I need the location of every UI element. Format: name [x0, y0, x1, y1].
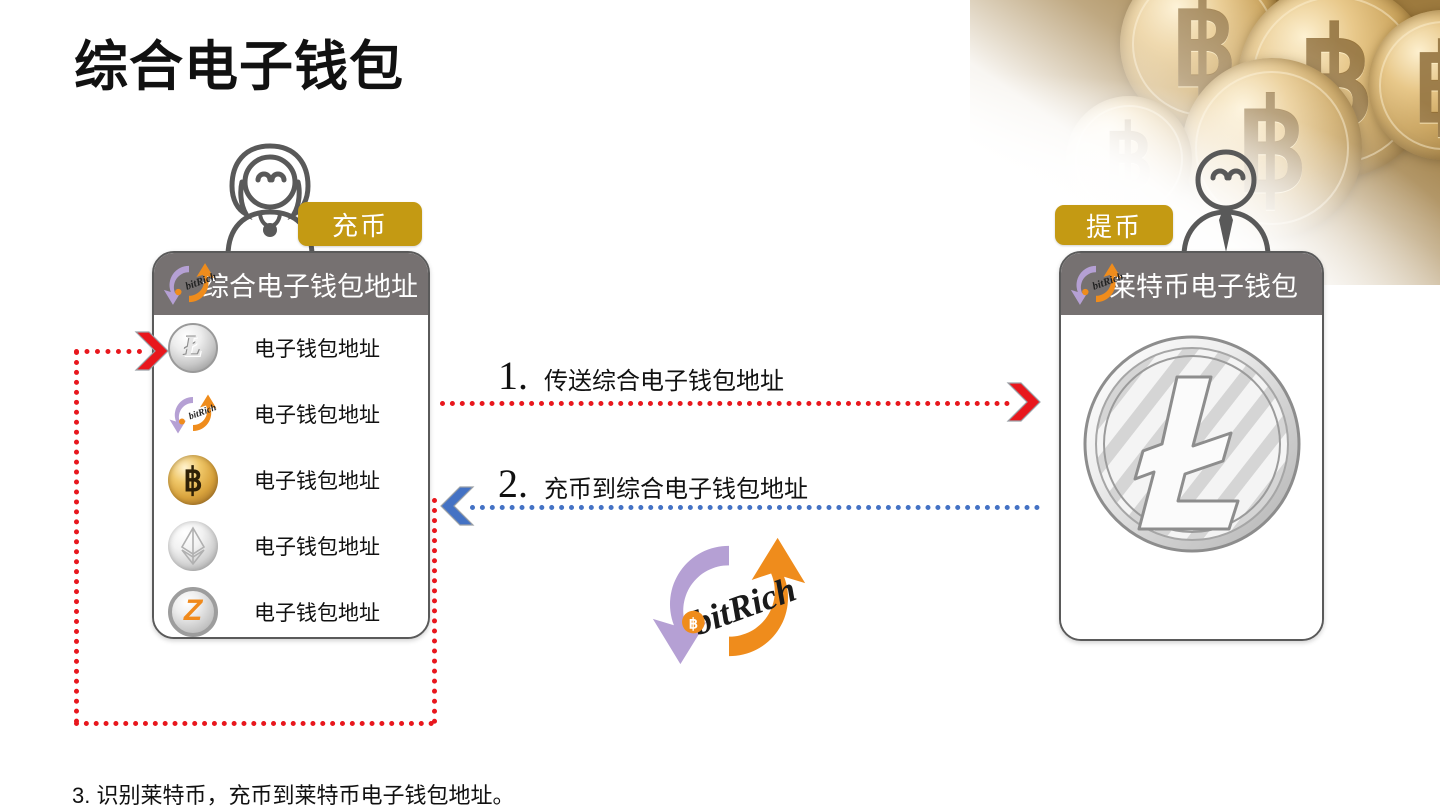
- step-1-label: 1. 传送综合电子钱包地址: [498, 352, 784, 399]
- step-2-label: 2. 充币到综合电子钱包地址: [498, 460, 808, 507]
- litecoin-wallet-card: bitRich 莱特币电子钱包: [1059, 251, 1324, 641]
- combined-wallet-header: bitRich 综合电子钱包地址: [154, 253, 428, 315]
- litecoin-wallet-header: bitRich 莱特币电子钱包: [1061, 253, 1322, 315]
- bitcoin-coin-icon: ฿: [168, 455, 218, 505]
- list-item[interactable]: ฿ 电子钱包地址: [154, 447, 428, 513]
- litecoin-wallet-body: [1061, 315, 1322, 639]
- svg-text:bitRich: bitRich: [687, 569, 801, 643]
- step-2-text: 充币到综合电子钱包地址: [544, 469, 808, 504]
- wallet-address-label: 电子钱包地址: [254, 597, 380, 627]
- combined-wallet-title: 综合电子钱包地址: [202, 265, 418, 304]
- litecoin-coin-large-icon: [1081, 333, 1303, 555]
- step-1-number: 1.: [498, 352, 528, 399]
- combined-wallet-card: bitRich 综合电子钱包地址 Ł 电子钱包地址 bitRich: [152, 251, 430, 639]
- withdraw-badge[interactable]: 提币: [1055, 205, 1173, 245]
- list-item[interactable]: Ł 电子钱包地址: [154, 315, 428, 381]
- step-1-connector: [440, 401, 1010, 406]
- bitrich-logo-icon: bitRich: [162, 261, 216, 307]
- loopback-connector-left: [74, 350, 79, 724]
- litecoin-wallet-title: 莱特币电子钱包: [1109, 265, 1298, 304]
- page-title: 综合电子钱包: [74, 22, 404, 101]
- svg-text:฿: ฿: [689, 617, 698, 633]
- litecoin-coin-icon: Ł: [168, 323, 218, 373]
- step-2-number: 2.: [498, 460, 528, 507]
- list-item[interactable]: Z 电子钱包地址: [154, 579, 428, 639]
- deposit-badge[interactable]: 充币: [298, 202, 422, 246]
- loopback-connector-bottom: [74, 721, 434, 726]
- list-item[interactable]: bitRich 电子钱包地址: [154, 381, 428, 447]
- wallet-address-label: 电子钱包地址: [254, 399, 380, 429]
- wallet-address-label: 电子钱包地址: [254, 531, 380, 561]
- wallet-address-label: 电子钱包地址: [254, 333, 380, 363]
- step-1-text: 传送综合电子钱包地址: [544, 361, 784, 396]
- loopback-connector-top: [74, 349, 142, 354]
- ethereum-coin-icon: [168, 521, 218, 571]
- chevron-right-icon: [133, 329, 173, 373]
- combined-wallet-list: Ł 电子钱包地址 bitRich 电子钱包地址 ฿ 电子钱包地址: [154, 315, 428, 637]
- wallet-address-label: 电子钱包地址: [254, 465, 380, 495]
- bitrich-logo-center: bitRich ฿: [648, 528, 810, 674]
- chevron-right-icon: [1005, 380, 1045, 424]
- chevron-left-icon: [436, 484, 476, 528]
- list-item[interactable]: 电子钱包地址: [154, 513, 428, 579]
- slide-canvas: ฿ ฿ ฿ ฿ ฿ 综合电子钱包: [0, 0, 1440, 810]
- bitrich-logo-icon: bitRich: [1069, 261, 1123, 307]
- loopback-connector-right: [432, 498, 437, 724]
- bitrich-logo-icon: bitRich: [168, 389, 218, 439]
- footer-note: 3. 识别莱特币，充币到莱特币电子钱包地址。: [72, 778, 514, 810]
- person-male-icon: [1178, 140, 1274, 256]
- zcash-coin-icon: Z: [168, 587, 218, 637]
- step-2-connector: [470, 505, 1040, 510]
